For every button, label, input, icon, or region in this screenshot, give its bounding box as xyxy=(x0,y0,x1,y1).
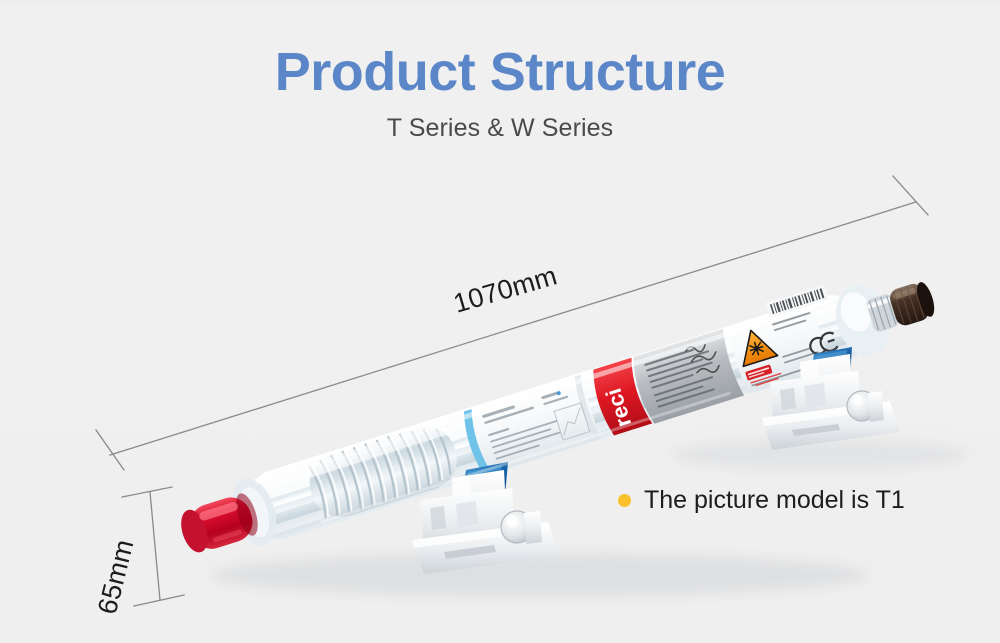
model-note-text: The picture model is T1 xyxy=(644,485,905,515)
red-end-cap xyxy=(176,491,262,557)
page-canvas: Product Structure T Series & W Series xyxy=(0,0,1000,643)
bullet-icon xyxy=(618,494,631,507)
product-image: reci xyxy=(0,0,1000,643)
electrode-terminal xyxy=(865,279,938,335)
model-note: The picture model is T1 xyxy=(618,485,905,515)
